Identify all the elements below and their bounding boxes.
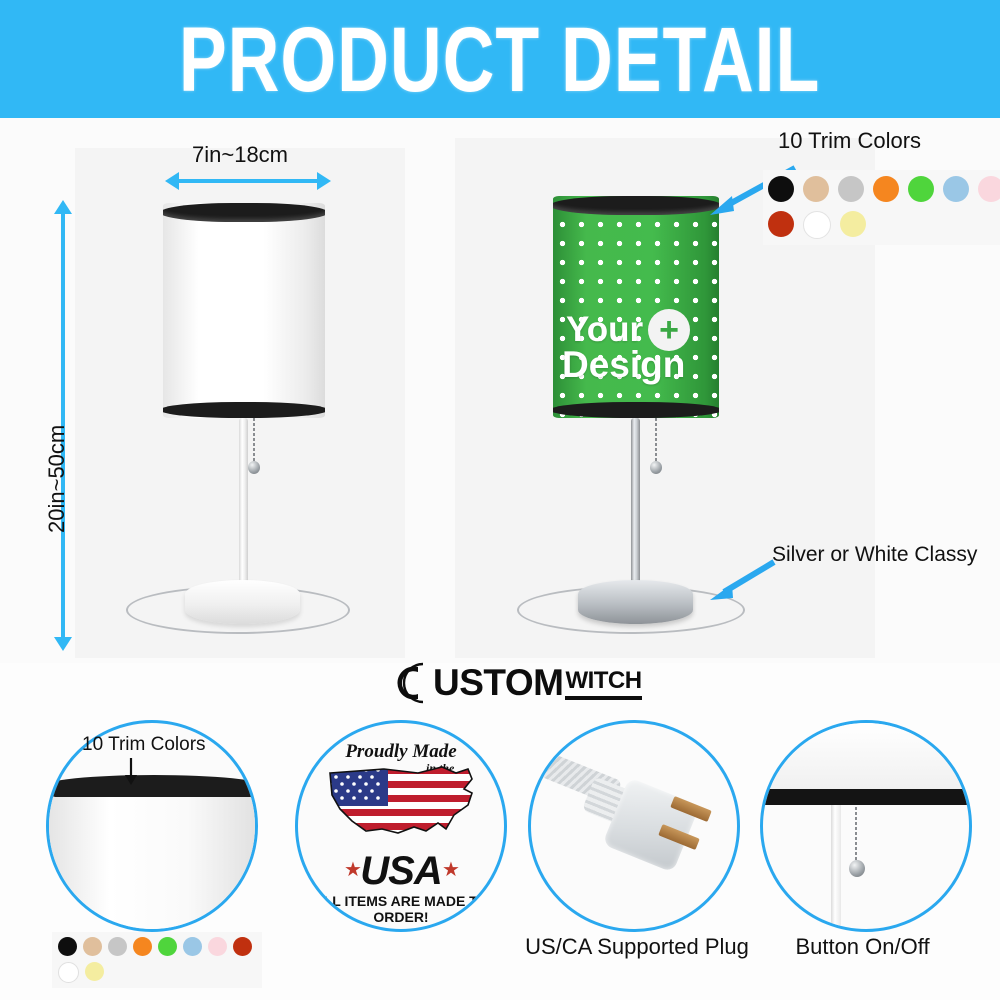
shade-trim-bottom — [553, 402, 719, 418]
brand-name-sub: WITCH — [565, 667, 641, 700]
swatch-orange[interactable] — [873, 176, 899, 202]
base-finish-callout-label: Silver or White Classy — [772, 543, 977, 567]
swatch-light-blue[interactable] — [183, 937, 202, 956]
shade-trim-closeup — [760, 789, 972, 805]
swatch-black[interactable] — [768, 176, 794, 202]
swatch-yellow[interactable] — [85, 962, 104, 981]
pull-chain-ball[interactable] — [248, 461, 260, 474]
panel-plug: US/CA Supported Plug — [512, 720, 762, 990]
swatch-gray[interactable] — [838, 176, 864, 202]
pull-chain-closeup[interactable] — [855, 807, 857, 863]
swatch-gray[interactable] — [108, 937, 127, 956]
swatch-white[interactable] — [803, 211, 831, 239]
product-stage: 7in~18cm 20in~50cm — [0, 118, 1000, 663]
trim-colors-callout-label: 10 Trim Colors — [778, 128, 921, 154]
lamp-base-silver — [578, 580, 693, 624]
trim-color-swatches-bottom — [52, 932, 262, 988]
shade-body-closeup — [46, 797, 258, 932]
swatch-tan[interactable] — [803, 176, 829, 202]
switch-circle — [760, 720, 972, 932]
swatch-red[interactable] — [233, 937, 252, 956]
height-dimension-label: 20in~50cm — [44, 425, 70, 533]
swatch-orange[interactable] — [133, 937, 152, 956]
page-title: PRODUCT DETAIL — [179, 5, 820, 112]
brand-logo: USTOM WITCH — [392, 662, 642, 704]
brand-name-main: USTOM — [433, 662, 563, 704]
swatch-black[interactable] — [58, 937, 77, 956]
swatch-yellow[interactable] — [840, 211, 866, 237]
panel-made-in-usa: Proudly Made in the — [290, 720, 505, 990]
panel-switch: Button On/Off — [755, 720, 970, 990]
panel-trim-colors: 10 Trim Colors — [40, 720, 255, 990]
lamp-base-white — [185, 580, 300, 624]
lamp-pole-closeup — [831, 805, 841, 929]
base-finish-callout-arrow-icon — [700, 558, 780, 606]
made-in-usa-circle: Proudly Made in the — [295, 720, 507, 932]
pull-chain[interactable] — [655, 418, 657, 463]
swatch-green[interactable] — [158, 937, 177, 956]
header-banner: PRODUCT DETAIL — [0, 0, 1000, 118]
product-detail-page: PRODUCT DETAIL 7in~18cm 20in~50cm — [0, 0, 1000, 1000]
width-dimension-arrow — [178, 179, 318, 183]
plug-caption: US/CA Supported Plug — [512, 934, 762, 960]
trim-color-swatches-top — [763, 170, 1000, 245]
usa-badge-subtitle: ALL ITEMS ARE MADE TO ORDER! — [298, 893, 504, 925]
pull-chain[interactable] — [253, 418, 255, 463]
shade-surface — [163, 203, 325, 418]
lamp-shade-blank — [163, 203, 325, 418]
switch-caption: Button On/Off — [755, 934, 970, 960]
usa-map-flag-icon — [322, 759, 482, 851]
trim-colors-panel-label: 10 Trim Colors — [82, 734, 206, 756]
down-arrow-icon — [120, 758, 142, 786]
usa-badge-country: USA — [298, 849, 504, 894]
lamp-shade-design[interactable]: Your Design + — [553, 196, 719, 418]
width-dimension-label: 7in~18cm — [192, 142, 288, 168]
swatch-red[interactable] — [768, 211, 794, 237]
add-design-plus-icon[interactable]: + — [648, 309, 690, 351]
brand-c-icon — [392, 662, 432, 704]
design-text-line1: Your — [566, 312, 643, 348]
star-left-icon: ★ — [344, 857, 362, 882]
pull-chain-ball-closeup[interactable] — [849, 860, 865, 877]
swatch-light-blue[interactable] — [943, 176, 969, 202]
shade-trim-bottom — [163, 402, 325, 418]
swatch-pink[interactable] — [208, 937, 227, 956]
shade-trim-top — [553, 196, 719, 215]
swatch-tan[interactable] — [83, 937, 102, 956]
plug-circle — [528, 720, 740, 932]
shade-bottom-closeup — [760, 723, 972, 795]
shade-trim-top — [163, 203, 325, 222]
swatch-white[interactable] — [58, 962, 79, 983]
design-text-line2: Design — [562, 346, 685, 384]
swatch-pink[interactable] — [978, 176, 1000, 202]
swatch-green[interactable] — [908, 176, 934, 202]
star-right-icon: ★ — [442, 857, 460, 882]
pull-chain-ball[interactable] — [650, 461, 662, 474]
